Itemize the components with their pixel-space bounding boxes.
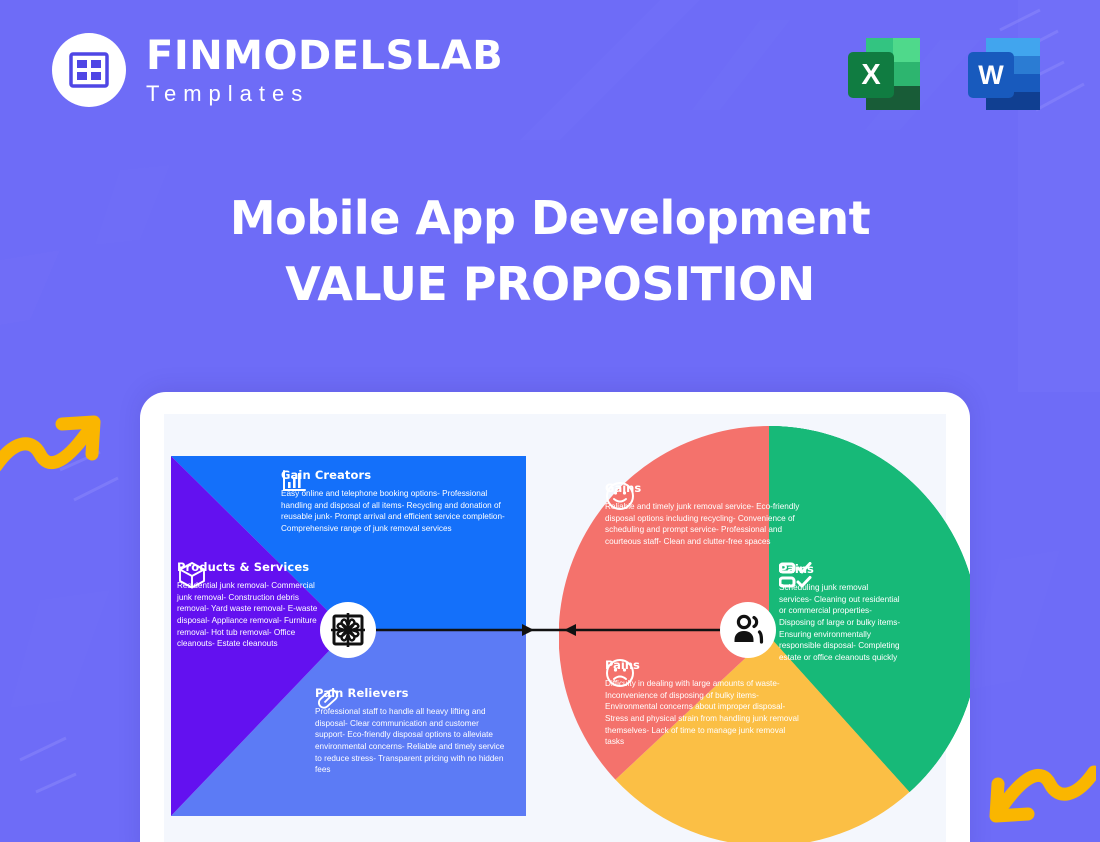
brand-subtitle: Templates xyxy=(146,83,503,105)
grid-squares-icon xyxy=(68,49,110,91)
block-pains: Pains Difficulty in dealing with large a… xyxy=(605,658,805,748)
block-pain-relievers: Pain Relievers Professional staff to han… xyxy=(315,686,511,776)
brand-logo: FINMODELSLAB Templates xyxy=(52,33,503,107)
office-icon-group: X W xyxy=(840,30,1048,118)
block-title: Gain Creators xyxy=(281,468,509,482)
block-products-services: Products & Services Residential junk rem… xyxy=(177,560,327,650)
logo-mark xyxy=(52,33,126,107)
customer-people-icon xyxy=(730,612,766,648)
bar-chart-icon xyxy=(281,468,307,494)
page-title: Mobile App Development xyxy=(0,195,1100,241)
block-gain-creators: Gain Creators Easy online and telephone … xyxy=(281,468,509,535)
brand-name: FINMODELSLAB xyxy=(146,36,503,76)
value-map-badge xyxy=(320,602,376,658)
customer-profile-badge xyxy=(720,602,776,658)
page-subtitle: VALUE PROPOSITION xyxy=(0,261,1100,307)
block-title: Pains xyxy=(605,658,805,672)
word-icon: W xyxy=(960,30,1048,118)
double-headed-arrow xyxy=(348,612,750,648)
svg-text:X: X xyxy=(861,59,881,91)
block-body: Professional staff to handle all heavy l… xyxy=(315,706,511,776)
svg-text:W: W xyxy=(978,60,1004,90)
excel-icon: X xyxy=(840,30,928,118)
checklist-icon xyxy=(779,562,815,590)
block-gains: Gains Reliable and timely junk removal s… xyxy=(605,481,800,548)
smiley-sad-icon xyxy=(605,658,635,688)
block-body: Residential junk removal- Commercial jun… xyxy=(177,580,327,650)
smiley-happy-icon xyxy=(605,481,635,511)
block-pains-jobs: Pains Scheduling junk removal services- … xyxy=(779,562,901,663)
box-package-icon xyxy=(177,560,207,590)
block-body: Difficulty in dealing with large amounts… xyxy=(605,678,805,748)
block-body: Easy online and telephone booking option… xyxy=(281,488,509,535)
gift-package-icon xyxy=(330,612,366,648)
block-body: Scheduling junk removal services- Cleani… xyxy=(779,582,901,663)
block-title: Pain Relievers xyxy=(315,686,511,700)
poster-canvas: FINMODELSLAB Templates X xyxy=(0,0,1100,842)
squiggly-arrow-up-right-icon xyxy=(0,404,122,486)
squiggly-arrow-down-left-icon xyxy=(968,752,1096,834)
pill-capsule-icon xyxy=(315,686,341,712)
title-block: Mobile App Development VALUE PROPOSITION xyxy=(0,195,1100,307)
